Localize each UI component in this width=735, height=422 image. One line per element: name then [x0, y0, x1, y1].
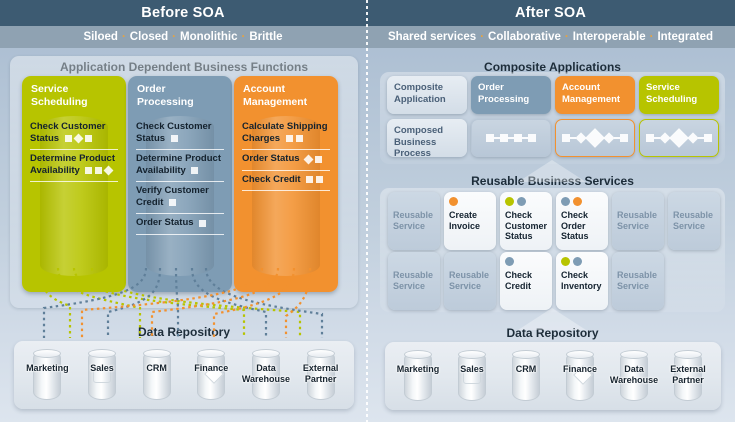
database-cylinder: Marketing	[22, 347, 72, 403]
composed-business-process-label: Composed Business Process	[394, 125, 443, 159]
square-marker-icon	[316, 176, 323, 183]
reusable-service-box[interactable]: ReusableService	[612, 192, 664, 250]
database-label: Finance	[180, 363, 242, 374]
function-item[interactable]: Check Customer Status	[136, 118, 224, 150]
square-marker-icon	[171, 135, 178, 142]
left-keyword-3: Brittle	[249, 31, 282, 43]
service-tag-dots	[393, 197, 440, 208]
composed-process-service-scheduling[interactable]	[639, 119, 719, 157]
database-label: Data Warehouse	[235, 363, 297, 384]
database-cylinder: External Partner	[296, 347, 346, 403]
composite-app-service-scheduling[interactable]: ServiceScheduling	[639, 76, 719, 114]
function-markers	[62, 134, 92, 146]
left-panel-title-band: Before SOA	[0, 0, 366, 26]
square-marker-icon	[85, 135, 92, 142]
service-tag-dots	[617, 257, 664, 268]
reusable-service-label: ReusableService	[617, 270, 657, 291]
database-label: CRM	[495, 364, 557, 375]
service-tag-dot-icon	[449, 197, 458, 206]
flow-arrow-composite-to-services	[518, 160, 586, 182]
function-markers	[196, 218, 206, 230]
function-item[interactable]: Calculate Shipping Charges	[242, 118, 330, 150]
square-marker-icon	[286, 135, 293, 142]
database-cylinder: Sales	[447, 348, 497, 404]
process-flow-icon	[562, 131, 628, 145]
composite-app-order-processing[interactable]: OrderProcessing	[471, 76, 551, 114]
function-markers	[168, 134, 178, 146]
square-marker-icon	[199, 220, 206, 227]
function-markers	[166, 198, 176, 210]
function-markers	[303, 175, 323, 187]
function-item[interactable]: Check Credit	[242, 171, 330, 192]
reusable-service-label: ReusableService	[673, 210, 713, 231]
database-cylinder: CRM	[501, 348, 551, 404]
application-title: OrderProcessing	[128, 76, 232, 108]
right-data-repository: MarketingSalesCRMFinanceData WarehouseEx…	[385, 342, 721, 410]
cylinder-top-icon	[620, 350, 648, 359]
cylinder-top-icon	[512, 350, 540, 359]
diamond-marker-icon	[73, 134, 83, 144]
database-label: External Partner	[657, 364, 719, 385]
service-tag-dot-icon	[505, 197, 514, 206]
function-item[interactable]: Verify Customer Credit	[136, 182, 224, 214]
reusable-service-box[interactable]: CheckInventory	[556, 252, 608, 310]
composite-application-label-box: Composite Application	[387, 76, 467, 114]
cylinder-top-icon	[674, 350, 702, 359]
function-item[interactable]: Check Customer Status	[30, 118, 118, 150]
service-tag-dots	[449, 257, 496, 268]
service-tag-dots	[393, 257, 440, 268]
separator-dot-icon: ·	[241, 31, 245, 43]
square-marker-icon	[85, 167, 92, 174]
right-keyword-1: Collaborative	[488, 31, 561, 43]
service-tag-dots	[561, 197, 608, 208]
function-markers	[302, 154, 322, 166]
square-marker-icon	[306, 176, 313, 183]
service-tag-dots	[673, 197, 720, 208]
database-label: Marketing	[387, 364, 449, 375]
left-keyword-0: Siloed	[83, 31, 118, 43]
service-tag-dot-icon	[561, 257, 570, 266]
function-item[interactable]: Determine Product Availability	[136, 150, 224, 182]
reusable-service-label: CheckInventory	[561, 270, 602, 291]
separator-dot-icon: ·	[172, 31, 176, 43]
function-list: Check Customer Status Determine Product …	[128, 118, 232, 235]
composed-process-order-processing[interactable]	[471, 119, 551, 157]
application-box-order-processing[interactable]: OrderProcessingCheck Customer Status Det…	[128, 76, 232, 292]
reusable-service-label: ReusableService	[393, 270, 433, 291]
database-cylinder: Finance	[555, 348, 605, 404]
composite-app-label: OrderProcessing	[478, 82, 529, 105]
service-tag-dots	[449, 197, 496, 208]
reusable-service-box[interactable]: ReusableService	[444, 252, 496, 310]
square-marker-icon	[296, 135, 303, 142]
right-keyword-2: Interoperable	[573, 31, 646, 43]
panel-divider	[366, 0, 368, 422]
cylinder-top-icon	[252, 349, 280, 358]
service-tag-dot-icon	[573, 257, 582, 266]
function-item[interactable]: Order Status	[242, 150, 330, 171]
square-marker-icon	[315, 156, 322, 163]
application-box-service-scheduling[interactable]: ServiceSchedulingCheck Customer Status D…	[22, 76, 126, 292]
composite-app-account-management[interactable]: AccountManagement	[555, 76, 635, 114]
cylinder-top-icon	[88, 349, 116, 358]
reusable-service-label: CheckCustomerStatus	[505, 210, 547, 241]
cylinder-top-icon	[566, 350, 594, 359]
function-markers	[283, 134, 303, 146]
square-marker-icon	[191, 167, 198, 174]
right-panel-title-band: After SOA	[366, 0, 735, 26]
application-title: ServiceScheduling	[22, 76, 126, 108]
square-marker-icon	[169, 199, 176, 206]
composite-app-label: ServiceScheduling	[646, 82, 697, 105]
left-panel-title: Before SOA	[141, 5, 224, 21]
left-data-repository: MarketingSalesCRMFinanceData WarehouseEx…	[14, 341, 354, 409]
database-label: Sales	[441, 364, 503, 375]
cylinder-top-icon	[404, 350, 432, 359]
database-label: Marketing	[16, 363, 78, 374]
soa-comparison-diagram: Before SOA Siloed · Closed · Monolithic …	[0, 0, 735, 422]
reusable-service-box[interactable]: ReusableService	[388, 192, 440, 250]
service-tag-dot-icon	[505, 257, 514, 266]
application-box-account-management[interactable]: AccountManagementCalculate Shipping Char…	[234, 76, 338, 292]
reusable-service-box[interactable]: ReusableService	[612, 252, 664, 310]
square-marker-icon	[65, 135, 72, 142]
reusable-service-box[interactable]: CreateInvoice	[444, 192, 496, 250]
application-title: AccountManagement	[234, 76, 338, 108]
database-cylinder: External Partner	[663, 348, 713, 404]
reusable-service-box[interactable]: ReusableService	[388, 252, 440, 310]
reusable-service-box[interactable]: CheckOrderStatus	[556, 192, 608, 250]
service-tag-dots	[505, 197, 552, 208]
reusable-service-label: CheckOrderStatus	[561, 210, 589, 241]
composed-process-account-management[interactable]	[555, 119, 635, 157]
left-panel-keywords: Siloed · Closed · Monolithic · Brittle	[0, 26, 366, 48]
separator-dot-icon: ·	[480, 31, 484, 43]
process-flow-icon	[646, 131, 712, 145]
process-flow-icon	[486, 134, 536, 142]
reusable-service-label: ReusableService	[449, 270, 489, 291]
reusable-service-box[interactable]: CheckCustomerStatus	[500, 192, 552, 250]
separator-dot-icon: ·	[122, 31, 126, 43]
database-cylinder: CRM	[132, 347, 182, 403]
separator-dot-icon: ·	[565, 31, 569, 43]
service-tag-dots	[505, 257, 552, 268]
database-cylinder: Marketing	[393, 348, 443, 404]
right-panel-title: After SOA	[515, 5, 586, 21]
function-item[interactable]: Order Status	[136, 214, 224, 235]
database-label: Sales	[71, 363, 133, 374]
reusable-service-box[interactable]: ReusableService	[668, 192, 720, 250]
composite-app-label: AccountManagement	[562, 82, 620, 105]
composite-application-label: Composite Application	[394, 82, 446, 105]
reusable-service-box[interactable]: CheckCredit	[500, 252, 552, 310]
reusable-service-label: CreateInvoice	[449, 210, 480, 231]
square-marker-icon	[95, 167, 102, 174]
right-panel-keywords: Shared services · Collaborative · Intero…	[366, 26, 735, 48]
separator-dot-icon: ·	[650, 31, 654, 43]
function-list: Calculate Shipping Charges Order Status …	[234, 118, 338, 191]
diamond-marker-icon	[304, 155, 314, 165]
flow-arrow-services-to-repository	[518, 308, 586, 330]
service-tag-dot-icon	[561, 197, 570, 206]
reusable-service-label: ReusableService	[617, 210, 657, 231]
left-connector-lines	[0, 268, 366, 338]
database-cylinder: Data Warehouse	[609, 348, 659, 404]
composed-business-process-label-box: Composed Business Process	[387, 119, 467, 157]
right-keyword-0: Shared services	[388, 31, 476, 43]
service-tag-dot-icon	[573, 197, 582, 206]
left-keyword-1: Closed	[130, 31, 168, 43]
database-label: External Partner	[290, 363, 352, 384]
function-markers	[188, 166, 198, 178]
right-keyword-3: Integrated	[657, 31, 713, 43]
service-tag-dot-icon	[517, 197, 526, 206]
reusable-service-label: ReusableService	[393, 210, 433, 231]
database-cylinder: Sales	[77, 347, 127, 403]
function-list: Check Customer Status Determine Product …	[22, 118, 126, 182]
database-label: Data Warehouse	[603, 364, 665, 385]
database-cylinder: Data Warehouse	[241, 347, 291, 403]
cylinder-top-icon	[307, 349, 335, 358]
diamond-marker-icon	[104, 166, 114, 176]
database-label: CRM	[126, 363, 188, 374]
cylinder-top-icon	[143, 349, 171, 358]
database-label: Finance	[549, 364, 611, 375]
function-markers	[82, 166, 112, 178]
database-cylinder: Finance	[186, 347, 236, 403]
reusable-service-label: CheckCredit	[505, 270, 532, 291]
service-tag-dots	[561, 257, 608, 268]
service-tag-dots	[617, 197, 664, 208]
function-item[interactable]: Determine Product Availability	[30, 150, 118, 182]
left-keyword-2: Monolithic	[180, 31, 238, 43]
cylinder-top-icon	[458, 350, 486, 359]
